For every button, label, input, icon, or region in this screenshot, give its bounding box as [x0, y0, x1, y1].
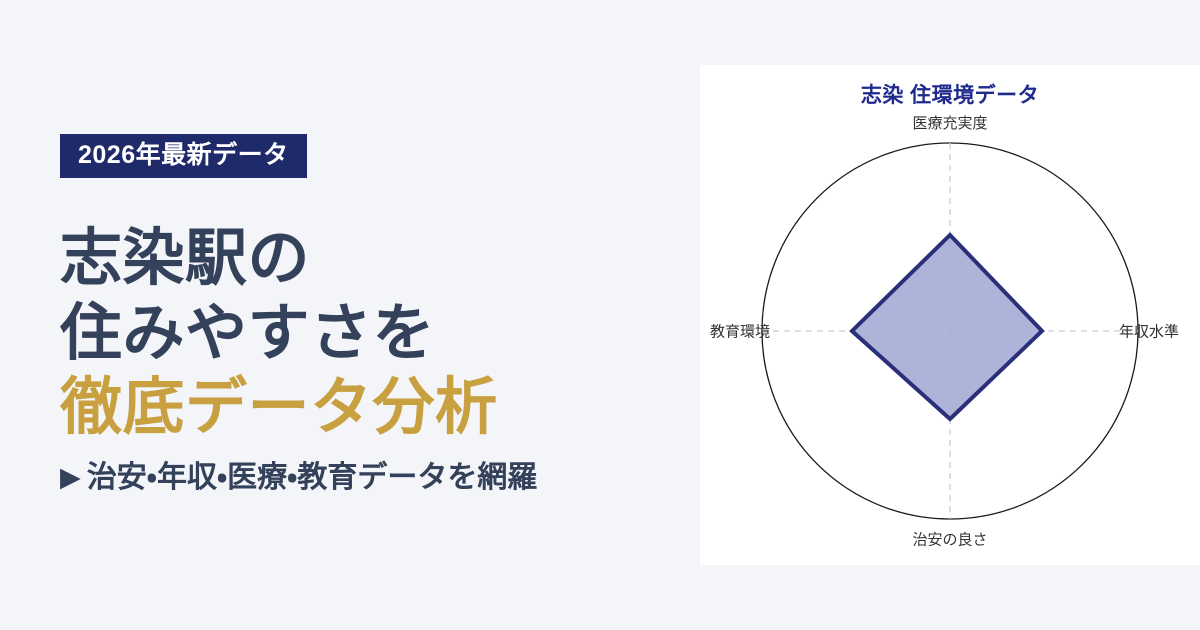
- page-title: 志染駅の 住みやすさを 徹底データ分析: [60, 222, 700, 445]
- ogp-canvas: 2026年最新データ 志染駅の 住みやすさを 徹底データ分析 ▶ 治安・年収・医…: [0, 0, 1200, 630]
- headline-line-2: 住みやすさを: [60, 297, 700, 371]
- subtitle-text: 治安・年収・医療・教育データを網羅: [87, 460, 538, 496]
- subtitle: ▶ 治安・年収・医療・教育データを網羅: [60, 460, 700, 496]
- radar-chart-card: 志染 住環境データ 医療充実度 年収水準 治安の良さ 教育環境: [700, 65, 1200, 565]
- headline-line-3-accent: 徹底データ分析: [60, 371, 700, 445]
- radar-chart-svg: [700, 65, 1200, 565]
- radar-data-polygon: [852, 235, 1042, 419]
- headline-line-1: 志染駅の: [60, 222, 700, 296]
- latest-data-badge: 2026年最新データ: [60, 134, 307, 178]
- radar-axis-label-medical: 医療充実度: [912, 112, 987, 133]
- triangle-marker-icon: ▶: [60, 464, 81, 491]
- radar-axis-label-income: 年収水準: [1119, 321, 1179, 342]
- hero-text-column: 2026年最新データ 志染駅の 住みやすさを 徹底データ分析 ▶ 治安・年収・医…: [0, 0, 700, 630]
- radar-axis-label-education: 教育環境: [710, 321, 770, 342]
- radar-axis-label-safety: 治安の良さ: [912, 529, 987, 550]
